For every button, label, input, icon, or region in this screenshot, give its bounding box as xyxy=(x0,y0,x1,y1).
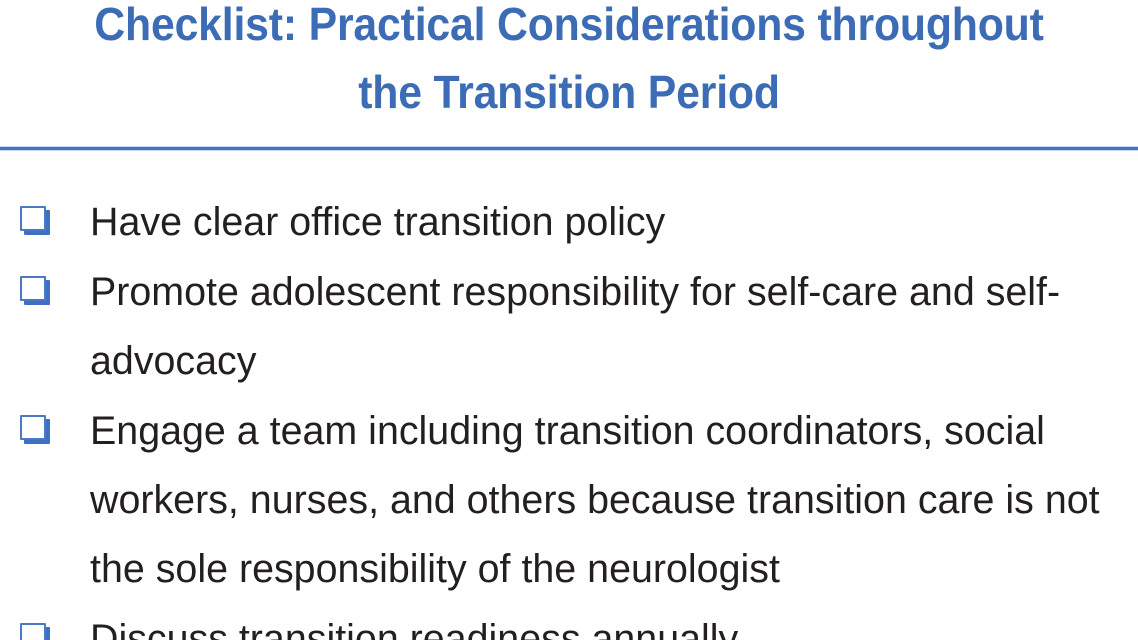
list-item[interactable]: Engage a team including transition coord… xyxy=(0,397,1138,604)
list-item-label: Have clear office transition policy xyxy=(90,188,1112,257)
checklist: Have clear office transition policy Prom… xyxy=(0,188,1138,640)
list-item-label: Promote adolescent responsibility for se… xyxy=(90,258,1112,396)
page-title: Checklist: Practical Considerations thro… xyxy=(40,0,1098,126)
list-item-label: Engage a team including transition coord… xyxy=(90,397,1112,604)
title-block: Checklist: Practical Considerations thro… xyxy=(0,0,1138,126)
empty-checkbox-icon[interactable] xyxy=(20,415,50,443)
empty-checkbox-icon[interactable] xyxy=(20,276,50,304)
empty-checkbox-icon[interactable] xyxy=(20,206,50,234)
list-item[interactable]: Discuss transition readiness annually xyxy=(0,605,1138,640)
list-item-label: Discuss transition readiness annually xyxy=(90,605,1112,640)
empty-checkbox-icon[interactable] xyxy=(20,623,50,640)
list-item[interactable]: Have clear office transition policy xyxy=(0,188,1138,257)
list-item[interactable]: Promote adolescent responsibility for se… xyxy=(0,258,1138,396)
title-divider-rule xyxy=(0,146,1138,151)
slide-canvas: Checklist: Practical Considerations thro… xyxy=(0,0,1138,640)
